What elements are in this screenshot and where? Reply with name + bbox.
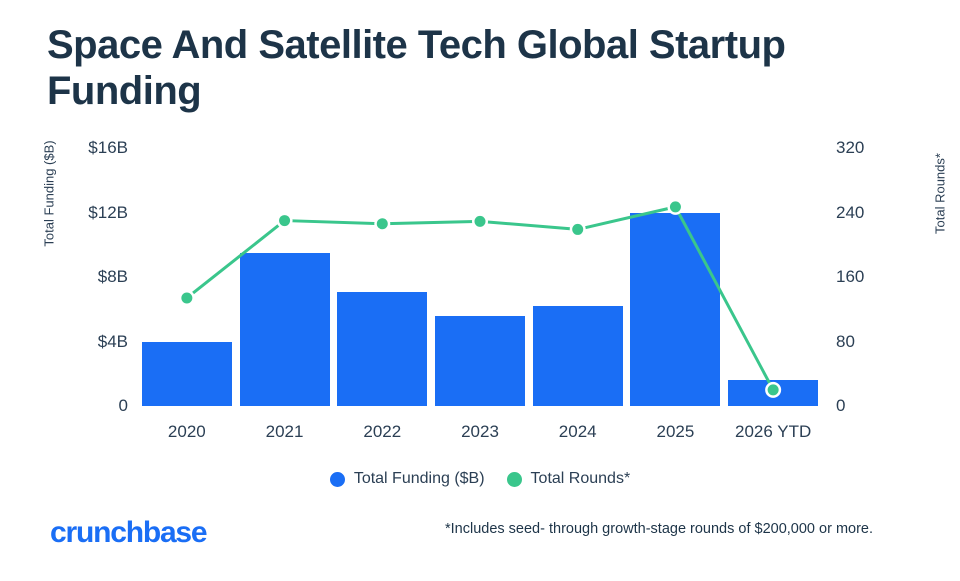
line-marker-2020[interactable] [181,292,192,303]
page-title: Space And Satellite Tech Global Startup … [47,22,887,114]
crunchbase-logo: crunchbase [50,516,206,550]
line-marker-2021[interactable] [279,215,290,226]
y-axis-left-ticks: 0$4B$8B$12B$16B [40,0,128,581]
y-axis-right-title: Total Rounds* [933,99,948,289]
y-axis-left-tick: $16B [88,138,128,158]
x-axis-tick: 2020 [168,422,206,442]
y-axis-right-tick: 240 [836,203,864,223]
y-axis-left-title: Total Funding ($B) [42,99,57,289]
plot-area [138,148,822,406]
legend-label: Total Rounds* [531,470,631,488]
line-marker-2026-ytd[interactable] [768,384,779,395]
line-path-total-rounds [187,207,773,390]
line-marker-2022[interactable] [377,218,388,229]
y-axis-right-tick: 0 [836,396,845,416]
legend-item[interactable]: Total Funding ($B) [330,470,485,488]
line-marker-2024[interactable] [572,224,583,235]
x-axis-tick: 2022 [363,422,401,442]
line-marker-2023[interactable] [475,216,486,227]
x-axis-ticks: 2020202120222023202420252026 YTD [138,422,822,448]
line-marker-2025[interactable] [670,201,681,212]
line-series-total-rounds [138,148,822,406]
footnote: *Includes seed- through growth-stage rou… [445,521,873,537]
legend-circle-icon [330,472,345,487]
x-axis-tick: 2023 [461,422,499,442]
y-axis-right-tick: 320 [836,138,864,158]
x-axis-tick: 2024 [559,422,597,442]
y-axis-left-tick: $12B [88,203,128,223]
chart-legend: Total Funding ($B)Total Rounds* [0,470,960,488]
x-axis-tick: 2025 [657,422,695,442]
y-axis-right-tick: 80 [836,332,855,352]
y-axis-left-tick: $8B [98,267,128,287]
legend-circle-icon [507,472,522,487]
legend-label: Total Funding ($B) [354,470,485,488]
y-axis-right-tick: 160 [836,267,864,287]
y-axis-left-tick: 0 [119,396,128,416]
y-axis-left-tick: $4B [98,332,128,352]
legend-item[interactable]: Total Rounds* [507,470,631,488]
x-axis-tick: 2021 [266,422,304,442]
y-axis-right-ticks: 080160240320 [836,0,896,581]
x-axis-tick: 2026 YTD [735,422,811,442]
